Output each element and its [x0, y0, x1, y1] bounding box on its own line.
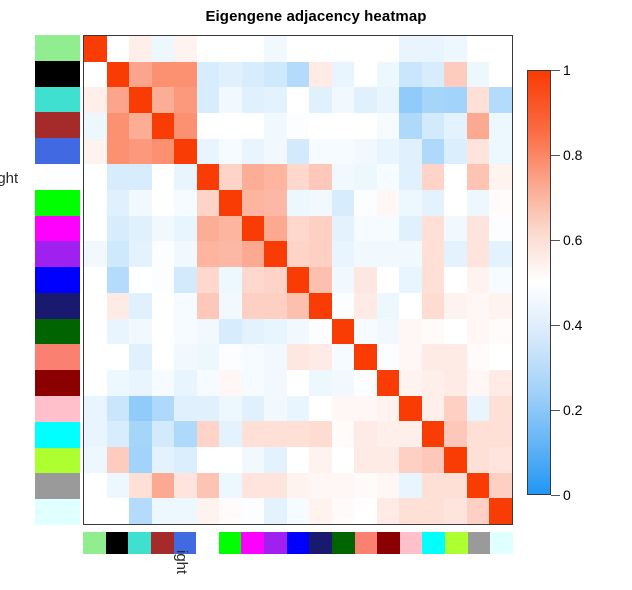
heatmap-cell: [107, 267, 130, 293]
heatmap-cell: [219, 164, 242, 190]
heatmap-cell: [219, 241, 242, 267]
heatmap-cell: [489, 164, 512, 190]
color-legend-bar: [527, 70, 551, 495]
heatmap-cell: [422, 293, 445, 319]
heatmap-cell: [84, 498, 107, 524]
heatmap-cell: [242, 447, 265, 473]
column-module-swatch: [309, 532, 332, 554]
heatmap-cell: [264, 498, 287, 524]
heatmap-cell: [444, 216, 467, 242]
heatmap-cell: [444, 396, 467, 422]
heatmap-cell: [309, 421, 332, 447]
column-module-swatch: [287, 532, 310, 554]
heatmap-cell: [107, 447, 130, 473]
heatmap-cell: [309, 216, 332, 242]
heatmap-cell: [309, 447, 332, 473]
heatmap-cell: [422, 87, 445, 113]
heatmap-cell: [444, 344, 467, 370]
heatmap-cell: [422, 473, 445, 499]
heatmap-cell: [489, 344, 512, 370]
heatmap-cell: [84, 421, 107, 447]
heatmap-cell: [489, 267, 512, 293]
heatmap-cell: [152, 113, 175, 139]
heatmap-cell: [174, 344, 197, 370]
heatmap-cell: [377, 498, 400, 524]
heatmap-cell: [377, 241, 400, 267]
legend-tick-label: 0.2: [563, 403, 582, 417]
heatmap-cell: [489, 241, 512, 267]
heatmap-cell: [174, 139, 197, 165]
heatmap-cell: [377, 293, 400, 319]
heatmap-cell: [467, 216, 490, 242]
heatmap-cell: [377, 190, 400, 216]
heatmap-cell: [467, 396, 490, 422]
heatmap-cell: [264, 370, 287, 396]
heatmap-cell: [332, 164, 355, 190]
heatmap-cell: [377, 267, 400, 293]
row-module-swatch: [35, 422, 80, 448]
heatmap-cell: [264, 241, 287, 267]
heatmap-cell: [129, 293, 152, 319]
heatmap-cell: [399, 293, 422, 319]
heatmap-cell: [354, 216, 377, 242]
heatmap-cell: [444, 293, 467, 319]
heatmap-cell: [197, 36, 220, 62]
heatmap-cell: [219, 267, 242, 293]
row-module-swatch: [35, 396, 80, 422]
heatmap-cell: [399, 164, 422, 190]
heatmap-cell: [242, 113, 265, 139]
heatmap-cell: [354, 190, 377, 216]
heatmap-cell: [197, 498, 220, 524]
heatmap-cell: [152, 370, 175, 396]
heatmap-cell: [152, 344, 175, 370]
heatmap-cell: [467, 319, 490, 345]
heatmap-cell: [287, 36, 310, 62]
heatmap-cell: [219, 87, 242, 113]
heatmap-cell: [84, 473, 107, 499]
heatmap-cell: [399, 421, 422, 447]
heatmap-cell: [399, 267, 422, 293]
heatmap-cell: [84, 396, 107, 422]
heatmap-cell: [152, 421, 175, 447]
heatmap-cell: [152, 293, 175, 319]
heatmap-cell: [309, 319, 332, 345]
heatmap-cell: [107, 370, 130, 396]
heatmap-cell: [107, 62, 130, 88]
legend-tick-mark: [551, 70, 560, 71]
heatmap-cell: [489, 447, 512, 473]
heatmap-cell: [242, 396, 265, 422]
heatmap-cell: [332, 87, 355, 113]
heatmap-cell: [197, 473, 220, 499]
heatmap-cell: [309, 396, 332, 422]
heatmap-cell: [489, 473, 512, 499]
heatmap-cell: [399, 319, 422, 345]
heatmap-cell: [399, 498, 422, 524]
heatmap-cell: [399, 190, 422, 216]
heatmap-cell: [129, 344, 152, 370]
heatmap-cell: [444, 447, 467, 473]
heatmap-cell: [152, 62, 175, 88]
heatmap-cell: [152, 396, 175, 422]
heatmap-cell: [354, 87, 377, 113]
heatmap-cell: [489, 396, 512, 422]
heatmap-cell: [129, 473, 152, 499]
heatmap-cell: [489, 216, 512, 242]
heatmap-cell: [107, 473, 130, 499]
heatmap-cell: [354, 344, 377, 370]
heatmap-cell: [264, 190, 287, 216]
heatmap-cell: [287, 447, 310, 473]
heatmap-cell: [219, 319, 242, 345]
heatmap-cell: [174, 447, 197, 473]
heatmap-cell: [354, 293, 377, 319]
heatmap-cell: [399, 87, 422, 113]
heatmap-cell: [309, 62, 332, 88]
heatmap-cell: [444, 87, 467, 113]
column-module-color-strip: [83, 532, 513, 554]
heatmap-cell: [264, 139, 287, 165]
heatmap-cell: [489, 87, 512, 113]
heatmap-cell: [264, 396, 287, 422]
heatmap-cell: [399, 36, 422, 62]
heatmap-cell: [399, 216, 422, 242]
heatmap-cell: [332, 62, 355, 88]
heatmap-cell: [264, 87, 287, 113]
heatmap-cell: [332, 498, 355, 524]
heatmap-cell: [174, 62, 197, 88]
heatmap-cell: [84, 139, 107, 165]
heatmap-cell: [287, 498, 310, 524]
heatmap-cell: [422, 447, 445, 473]
heatmap-cell: [332, 139, 355, 165]
heatmap-cell: [332, 216, 355, 242]
heatmap-cell: [129, 447, 152, 473]
heatmap-cell: [107, 498, 130, 524]
heatmap-cell: [84, 344, 107, 370]
heatmap-cell: [354, 164, 377, 190]
heatmap-cell: [174, 113, 197, 139]
heatmap-cell: [444, 370, 467, 396]
heatmap-cell: [107, 344, 130, 370]
heatmap-cell: [219, 344, 242, 370]
heatmap-cell: [264, 447, 287, 473]
row-module-swatch: [35, 499, 80, 525]
heatmap-cell: [129, 164, 152, 190]
heatmap-cell: [354, 473, 377, 499]
heatmap-cell: [152, 267, 175, 293]
heatmap-cell: [377, 319, 400, 345]
heatmap-cell: [377, 62, 400, 88]
heatmap-cell: [242, 241, 265, 267]
heatmap-cell: [152, 216, 175, 242]
heatmap-cell: [354, 319, 377, 345]
heatmap-cell: [399, 473, 422, 499]
heatmap-cell: [242, 267, 265, 293]
heatmap-cell: [107, 319, 130, 345]
heatmap-cell: [467, 241, 490, 267]
heatmap-cell: [219, 447, 242, 473]
heatmap-cell: [354, 113, 377, 139]
heatmap-cell: [399, 344, 422, 370]
heatmap-cell: [287, 344, 310, 370]
heatmap-cell: [174, 473, 197, 499]
heatmap-cell: [354, 267, 377, 293]
heatmap-cell: [219, 190, 242, 216]
row-module-swatch: [35, 293, 80, 319]
heatmap-cell: [422, 62, 445, 88]
heatmap-cell: [354, 370, 377, 396]
heatmap-cell: [84, 267, 107, 293]
heatmap-plot-area: [83, 35, 513, 525]
heatmap-cell: [467, 344, 490, 370]
heatmap-cell: [332, 344, 355, 370]
heatmap-cell: [422, 498, 445, 524]
heatmap-cell: [422, 139, 445, 165]
column-module-swatch: [422, 532, 445, 554]
column-module-swatch: [445, 532, 468, 554]
heatmap-cell: [467, 447, 490, 473]
heatmap-cell: [264, 473, 287, 499]
heatmap-cell: [84, 164, 107, 190]
heatmap-cell: [287, 164, 310, 190]
heatmap-cell: [174, 164, 197, 190]
heatmap-cell: [129, 216, 152, 242]
heatmap-cell: [152, 241, 175, 267]
heatmap-cell: [107, 139, 130, 165]
heatmap-cell: [264, 62, 287, 88]
row-module-swatch: [35, 267, 80, 293]
heatmap-cell: [422, 113, 445, 139]
heatmap-cell: [332, 473, 355, 499]
heatmap-cell: [84, 36, 107, 62]
heatmap-cell: [399, 447, 422, 473]
heatmap-cell: [377, 216, 400, 242]
heatmap-cell: [377, 113, 400, 139]
heatmap-cell: [377, 370, 400, 396]
heatmap-cell: [152, 498, 175, 524]
heatmap-cell: [309, 113, 332, 139]
column-module-swatch: [264, 532, 287, 554]
heatmap-cell: [332, 447, 355, 473]
heatmap-cell: [332, 396, 355, 422]
heatmap-cell: [242, 62, 265, 88]
heatmap-cell: [489, 421, 512, 447]
row-module-swatch: [35, 138, 80, 164]
heatmap-cell: [219, 370, 242, 396]
row-module-swatch: [35, 190, 80, 216]
heatmap-cell: [489, 113, 512, 139]
row-module-swatch: [35, 35, 80, 61]
legend-tick-mark: [551, 495, 560, 496]
heatmap-cell: [489, 190, 512, 216]
column-module-gap: [196, 532, 219, 554]
heatmap-cell: [467, 498, 490, 524]
row-module-swatch: [35, 241, 80, 267]
row-module-swatch: [35, 448, 80, 474]
heatmap-cell: [84, 319, 107, 345]
heatmap-cell: [444, 473, 467, 499]
column-module-swatch: [400, 532, 423, 554]
heatmap-cell: [287, 473, 310, 499]
legend-tick-label: 0.8: [563, 148, 582, 162]
heatmap-cell: [309, 267, 332, 293]
page-title: Eigengene adjacency heatmap: [0, 8, 632, 25]
heatmap-cell: [489, 139, 512, 165]
heatmap-cell: [444, 267, 467, 293]
heatmap-cell: [467, 267, 490, 293]
heatmap-cell: [309, 190, 332, 216]
heatmap-cell: [287, 421, 310, 447]
heatmap-cell: [107, 216, 130, 242]
heatmap-cell: [287, 396, 310, 422]
heatmap-cell: [264, 267, 287, 293]
heatmap-cell: [422, 396, 445, 422]
heatmap-cell: [354, 447, 377, 473]
heatmap-cell: [467, 113, 490, 139]
heatmap-cell: [399, 241, 422, 267]
heatmap-cell: [107, 36, 130, 62]
heatmap-cell: [377, 421, 400, 447]
heatmap-cell: [264, 293, 287, 319]
heatmap-figure: Eigengene adjacency heatmap ight ight 10…: [0, 0, 632, 590]
heatmap-grid: [84, 36, 512, 524]
heatmap-cell: [174, 421, 197, 447]
heatmap-cell: [332, 36, 355, 62]
heatmap-cell: [152, 447, 175, 473]
heatmap-cell: [377, 139, 400, 165]
heatmap-cell: [287, 62, 310, 88]
row-module-color-strip: [35, 35, 80, 525]
heatmap-cell: [197, 190, 220, 216]
heatmap-cell: [219, 498, 242, 524]
heatmap-cell: [467, 139, 490, 165]
heatmap-cell: [152, 319, 175, 345]
heatmap-cell: [377, 36, 400, 62]
heatmap-cell: [444, 421, 467, 447]
heatmap-cell: [197, 113, 220, 139]
heatmap-cell: [287, 293, 310, 319]
heatmap-cell: [354, 396, 377, 422]
heatmap-cell: [489, 293, 512, 319]
heatmap-cell: [399, 62, 422, 88]
legend-tick-label: 0.6: [563, 233, 582, 247]
column-module-swatch: [106, 532, 129, 554]
heatmap-cell: [84, 87, 107, 113]
heatmap-cell: [197, 216, 220, 242]
heatmap-cell: [444, 498, 467, 524]
heatmap-cell: [377, 447, 400, 473]
heatmap-cell: [264, 344, 287, 370]
row-module-swatch: [35, 319, 80, 345]
heatmap-cell: [354, 139, 377, 165]
heatmap-cell: [152, 473, 175, 499]
heatmap-cell: [152, 190, 175, 216]
legend-tick-label: 1: [563, 63, 571, 77]
heatmap-cell: [174, 190, 197, 216]
heatmap-cell: [399, 113, 422, 139]
heatmap-cell: [332, 190, 355, 216]
heatmap-cell: [309, 139, 332, 165]
heatmap-cell: [489, 370, 512, 396]
column-module-swatch: [219, 532, 242, 554]
heatmap-cell: [107, 293, 130, 319]
heatmap-cell: [129, 36, 152, 62]
column-module-swatch: [355, 532, 378, 554]
heatmap-cell: [287, 319, 310, 345]
row-module-swatch: [35, 370, 80, 396]
heatmap-cell: [309, 36, 332, 62]
heatmap-cell: [467, 421, 490, 447]
heatmap-cell: [332, 421, 355, 447]
heatmap-cell: [107, 190, 130, 216]
heatmap-cell: [399, 370, 422, 396]
heatmap-cell: [354, 421, 377, 447]
column-module-swatch: [128, 532, 151, 554]
heatmap-cell: [152, 36, 175, 62]
heatmap-cell: [152, 164, 175, 190]
heatmap-cell: [399, 396, 422, 422]
heatmap-cell: [174, 241, 197, 267]
heatmap-cell: [107, 87, 130, 113]
heatmap-cell: [197, 319, 220, 345]
column-module-swatch: [468, 532, 491, 554]
heatmap-cell: [309, 293, 332, 319]
heatmap-cell: [242, 216, 265, 242]
heatmap-cell: [242, 370, 265, 396]
heatmap-cell: [332, 319, 355, 345]
heatmap-cell: [242, 36, 265, 62]
heatmap-cell: [174, 293, 197, 319]
heatmap-cell: [84, 113, 107, 139]
heatmap-cell: [467, 190, 490, 216]
heatmap-cell: [174, 87, 197, 113]
heatmap-cell: [309, 87, 332, 113]
heatmap-cell: [422, 344, 445, 370]
heatmap-cell: [84, 216, 107, 242]
heatmap-cell: [444, 164, 467, 190]
heatmap-cell: [444, 241, 467, 267]
heatmap-cell: [264, 319, 287, 345]
legend-tick-label: 0.4: [563, 318, 582, 332]
heatmap-cell: [467, 473, 490, 499]
heatmap-cell: [444, 62, 467, 88]
legend-tick-mark: [551, 240, 560, 241]
heatmap-cell: [197, 344, 220, 370]
heatmap-cell: [219, 421, 242, 447]
heatmap-cell: [354, 36, 377, 62]
heatmap-cell: [174, 267, 197, 293]
heatmap-cell: [422, 319, 445, 345]
heatmap-cell: [129, 370, 152, 396]
row-module-swatch: [35, 87, 80, 113]
heatmap-cell: [242, 87, 265, 113]
heatmap-cell: [332, 267, 355, 293]
heatmap-cell: [197, 87, 220, 113]
heatmap-cell: [264, 36, 287, 62]
heatmap-cell: [377, 164, 400, 190]
heatmap-cell: [444, 190, 467, 216]
heatmap-cell: [377, 87, 400, 113]
heatmap-cell: [129, 267, 152, 293]
row-module-swatch: [35, 61, 80, 87]
legend-tick-mark: [551, 410, 560, 411]
heatmap-cell: [129, 113, 152, 139]
heatmap-cell: [467, 62, 490, 88]
heatmap-cell: [197, 421, 220, 447]
heatmap-cell: [489, 62, 512, 88]
